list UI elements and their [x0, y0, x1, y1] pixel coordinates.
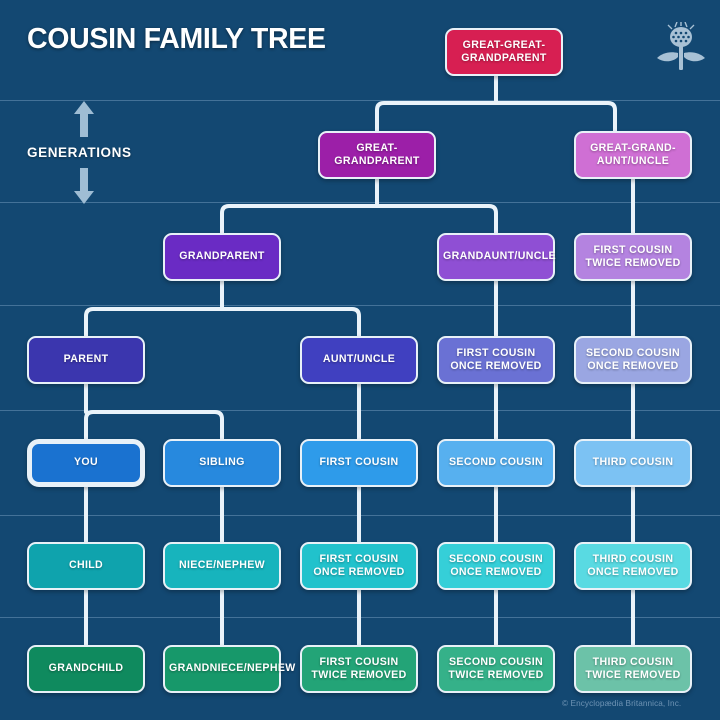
- node-child[interactable]: CHILD: [27, 542, 145, 590]
- node-third-cousin[interactable]: THIRD COUSIN: [574, 439, 692, 487]
- node-great-grandparent[interactable]: GREAT-GRANDPARENT: [318, 131, 436, 179]
- node-label: GRANDPARENT: [169, 250, 275, 264]
- node-label: AUNT/UNCLE: [306, 353, 412, 367]
- node-third-cousin-once-removed-r6[interactable]: THIRD COUSIN ONCE REMOVED: [574, 542, 692, 590]
- node-first-cousin-twice-removed-r7[interactable]: FIRST COUSIN TWICE REMOVED: [300, 645, 418, 693]
- node-label: CHILD: [33, 559, 139, 573]
- node-parent[interactable]: PARENT: [27, 336, 145, 384]
- node-niece-nephew[interactable]: NIECE/NEPHEW: [163, 542, 281, 590]
- node-label: GREAT-GRANDPARENT: [324, 142, 430, 169]
- node-label: THIRD COUSIN ONCE REMOVED: [580, 553, 686, 580]
- node-label: GRANDNIECE/NEPHEW: [169, 662, 275, 676]
- node-label: NIECE/NEPHEW: [169, 559, 275, 573]
- node-first-cousin[interactable]: FIRST COUSIN: [300, 439, 418, 487]
- node-great-great-grandparent[interactable]: GREAT-GREAT-GRANDPARENT: [445, 28, 563, 76]
- node-label: SECOND COUSIN: [443, 456, 549, 470]
- node-label: GRANDCHILD: [33, 662, 139, 676]
- node-label: GREAT-GREAT-GRANDPARENT: [451, 39, 557, 66]
- node-sibling[interactable]: SIBLING: [163, 439, 281, 487]
- node-label: THIRD COUSIN: [580, 456, 686, 470]
- node-label: THIRD COUSIN TWICE REMOVED: [580, 656, 686, 683]
- node-second-cousin-twice-removed-r7[interactable]: SECOND COUSIN TWICE REMOVED: [437, 645, 555, 693]
- node-aunt-uncle[interactable]: AUNT/UNCLE: [300, 336, 418, 384]
- node-first-cousin-once-removed-r6[interactable]: FIRST COUSIN ONCE REMOVED: [300, 542, 418, 590]
- node-label: SIBLING: [169, 456, 275, 470]
- node-label: FIRST COUSIN TWICE REMOVED: [306, 656, 412, 683]
- node-label: FIRST COUSIN ONCE REMOVED: [443, 347, 549, 374]
- node-label: GRANDAUNT/UNCLE: [443, 250, 549, 264]
- copyright-notice: © Encyclopædia Britannica, Inc.: [562, 699, 681, 708]
- node-second-cousin-once-removed-r4[interactable]: SECOND COUSIN ONCE REMOVED: [574, 336, 692, 384]
- node-grandchild[interactable]: GRANDCHILD: [27, 645, 145, 693]
- cousin-family-tree-infographic: COUSIN FAMILY TREE GENERATIONS: [0, 0, 720, 720]
- node-label: GREAT-GRAND-AUNT/UNCLE: [580, 142, 686, 169]
- node-label: PARENT: [33, 353, 139, 367]
- node-first-cousin-twice-removed-r3[interactable]: FIRST COUSIN TWICE REMOVED: [574, 233, 692, 281]
- node-you[interactable]: YOU: [27, 439, 145, 487]
- node-grandniece-nephew[interactable]: GRANDNIECE/NEPHEW: [163, 645, 281, 693]
- node-label: FIRST COUSIN TWICE REMOVED: [580, 244, 686, 271]
- node-label: SECOND COUSIN ONCE REMOVED: [443, 553, 549, 580]
- node-third-cousin-twice-removed-r7[interactable]: THIRD COUSIN TWICE REMOVED: [574, 645, 692, 693]
- node-grandaunt-uncle[interactable]: GRANDAUNT/UNCLE: [437, 233, 555, 281]
- node-label: SECOND COUSIN TWICE REMOVED: [443, 656, 549, 683]
- node-label: SECOND COUSIN ONCE REMOVED: [580, 347, 686, 374]
- node-grandparent[interactable]: GRANDPARENT: [163, 233, 281, 281]
- node-label: FIRST COUSIN: [306, 456, 412, 470]
- node-second-cousin-once-removed-r6[interactable]: SECOND COUSIN ONCE REMOVED: [437, 542, 555, 590]
- node-label: FIRST COUSIN ONCE REMOVED: [306, 553, 412, 580]
- node-label: YOU: [36, 456, 136, 470]
- node-great-grand-aunt-uncle[interactable]: GREAT-GRAND-AUNT/UNCLE: [574, 131, 692, 179]
- node-second-cousin[interactable]: SECOND COUSIN: [437, 439, 555, 487]
- node-first-cousin-once-removed-r4[interactable]: FIRST COUSIN ONCE REMOVED: [437, 336, 555, 384]
